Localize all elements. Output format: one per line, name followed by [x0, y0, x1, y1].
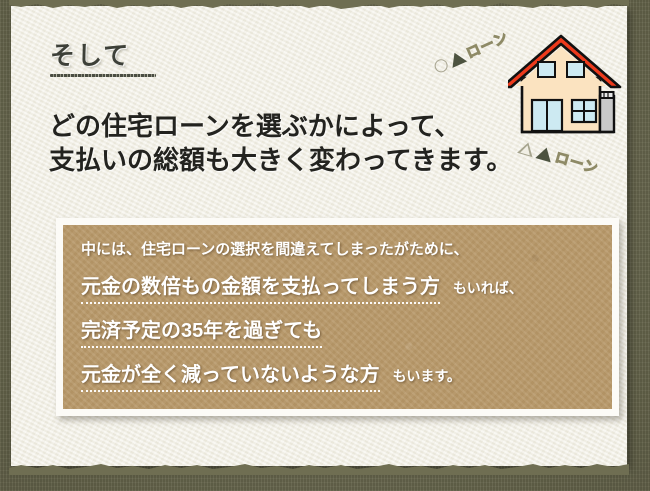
house-icon	[508, 34, 624, 146]
slide-canvas: そして どの住宅ローンを選ぶかによって、 支払いの総額も大きく変わってきます。 …	[0, 0, 650, 491]
callout-point-3: 元金が全く減っていないような方 もいます。	[81, 358, 612, 392]
callout-frame: 中には、住宅ローンの選択を間違えてしまったがために、 元金の数倍もの金額を支払っ…	[56, 218, 619, 416]
callout-point-1-tail: もいれば、	[453, 278, 523, 298]
loan-tag-top: ローン	[431, 27, 512, 78]
title-underline-decoration	[50, 74, 156, 77]
lead-paragraph: どの住宅ローンを選ぶかによって、 支払いの総額も大きく変わってきます。	[49, 109, 519, 178]
callout-point-3-emphasis: 元金が全く減っていないような方	[81, 358, 380, 392]
lead-line-1: どの住宅ローンを選ぶかによって、	[49, 109, 519, 143]
callout-box: 中には、住宅ローンの選択を間違えてしまったがために、 元金の数倍もの金額を支払っ…	[63, 225, 612, 409]
torn-paper-sheet: そして どの住宅ローンを選ぶかによって、 支払いの総額も大きく変わってきます。 …	[11, 6, 627, 466]
triangle-filled-icon	[447, 49, 467, 67]
callout-point-2-emphasis: 完済予定の35年を過ぎても	[81, 314, 322, 348]
paper-torn-bottom-edge	[9, 459, 629, 475]
lead-line-2: 支払いの総額も大きく変わってきます。	[49, 143, 519, 177]
callout-point-2: 完済予定の35年を過ぎても	[81, 314, 612, 348]
callout-point-1-emphasis: 元金の数倍もの金額を支払ってしまう方	[81, 270, 440, 304]
circle-outline-icon	[432, 57, 449, 74]
page-title: そして	[50, 44, 156, 69]
callout-point-1: 元金の数倍もの金額を支払ってしまう方 もいれば、	[81, 270, 612, 304]
paper-torn-top-edge	[9, 0, 629, 14]
loan-tag-top-label: ローン	[463, 27, 512, 63]
title-block: そして	[50, 44, 156, 77]
callout-intro-text: 中には、住宅ローンの選択を間違えてしまったがために、	[81, 238, 612, 259]
triangle-filled-icon	[535, 145, 554, 162]
callout-point-3-tail: もいます。	[393, 366, 461, 386]
loan-tag-bottom-label: ローン	[553, 147, 601, 178]
